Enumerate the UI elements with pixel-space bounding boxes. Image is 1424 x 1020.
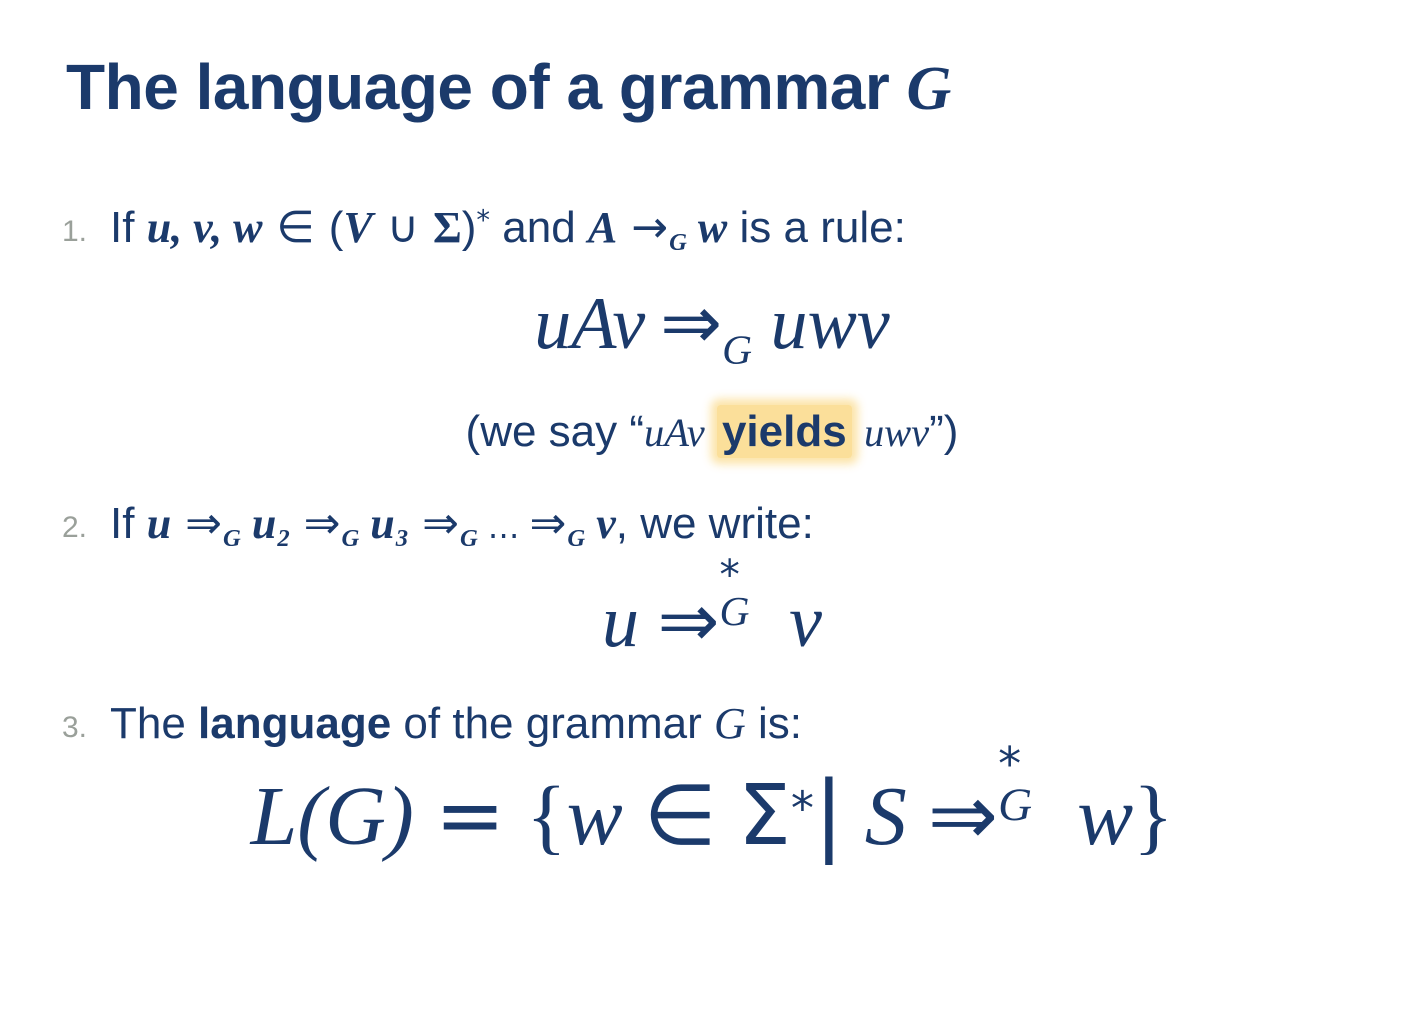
eq3-subscript-G: G <box>998 782 1032 829</box>
item2-if: If <box>110 499 147 548</box>
item1-var-w2: w <box>687 203 727 252</box>
note-space-2 <box>852 407 864 456</box>
eq2-subscript-G: G <box>720 591 750 632</box>
note-open: (we say “ <box>466 407 644 456</box>
list-text-3: The language of the grammar G is: <box>110 700 802 748</box>
item1-and: and <box>490 203 588 252</box>
highlighted-term-yields: yields <box>717 405 852 458</box>
double-arrow-icon: ⇒ <box>928 766 998 864</box>
item1-if: If <box>110 203 147 252</box>
note-space-1 <box>705 407 717 456</box>
list-item-3: 3. The language of the grammar G is: <box>62 700 802 748</box>
item2-var-u: u <box>147 499 171 548</box>
eq2-lhs: u <box>602 581 639 663</box>
item2-var-u2: u <box>241 499 276 548</box>
item3-the: The <box>110 699 198 748</box>
eq2-rhs: v <box>789 581 822 663</box>
eq3-close-brace: } <box>1133 770 1173 863</box>
item2-sub-G-2: G <box>340 525 359 552</box>
item2-sub-G-1: G <box>222 525 241 552</box>
eq3-such-that-bar: | <box>814 762 844 865</box>
item3-grammar-symbol: G <box>714 699 746 748</box>
page-title: The language of a grammar G <box>66 51 951 125</box>
equation-derives-star: u ⇒*G v <box>0 572 1424 659</box>
double-arrow-icon: ⇒ <box>658 578 720 664</box>
item2-u2-index: 2 <box>276 525 289 552</box>
note-yields-wording: (we say “uAv yields uwv”) <box>0 408 1424 456</box>
title-bold-word: language <box>196 51 473 123</box>
item1-set-Sigma: Σ <box>433 203 462 252</box>
eq3-rhs-w: w <box>1077 770 1133 863</box>
item2-sub-G-4: G <box>566 525 585 552</box>
member-of-icon: ∈ <box>262 202 328 253</box>
double-arrow-icon-4: ⇒ <box>530 498 567 549</box>
eq1-subscript-G: G <box>722 327 752 373</box>
equation-language-definition: L(G) = {w ∈ Σ*| S ⇒*G w} <box>0 760 1424 859</box>
list-item-2: 2. If u ⇒G u2 ⇒G u3 ⇒G … ⇒G v, we write: <box>62 500 814 552</box>
item1-kleene-star: * <box>476 206 490 237</box>
eq1-rhs: uwv <box>771 283 890 365</box>
union-icon: ∪ <box>373 202 433 253</box>
note-math-uwv: uwv <box>864 410 929 455</box>
item1-comma-1: , <box>171 203 193 252</box>
item3-bold-language: language <box>198 699 391 748</box>
eq3-start-symbol-S: S <box>865 770 907 863</box>
eq2-star-over-G: *G <box>720 572 753 646</box>
list-number-3: 3. <box>62 700 110 743</box>
rightwards-arrow-icon: → <box>617 202 668 253</box>
item3-middle: of the grammar <box>391 699 714 748</box>
equals-icon: = <box>435 766 505 864</box>
item3-tail: is: <box>746 699 802 748</box>
list-number-2: 2. <box>62 500 110 543</box>
title-middle: of a grammar <box>473 51 907 123</box>
eq1-lhs: uAv <box>534 283 645 365</box>
title-grammar-symbol: G <box>907 55 951 123</box>
member-of-icon: ∈ <box>644 766 717 864</box>
list-item-1: 1. If u, v, w ∈ (V ∪ Σ)* and A →G w is a… <box>62 204 906 256</box>
list-number-1: 1. <box>62 204 110 247</box>
ellipsis-icon: … <box>478 510 530 546</box>
item2-var-v: v <box>585 499 616 548</box>
double-arrow-icon-1: ⇒ <box>171 498 222 549</box>
item1-var-w: w <box>233 203 262 252</box>
eq3-var-w: w <box>567 770 623 863</box>
item1-open-paren: ( <box>329 203 344 252</box>
eq3-open-brace: { <box>526 770 566 863</box>
eq3-lhs: L(G) <box>251 770 414 863</box>
item2-var-u3: u <box>359 499 394 548</box>
item1-set-V: V <box>343 203 372 252</box>
item1-nonterminal-A: A <box>588 203 617 252</box>
double-arrow-icon-3: ⇒ <box>408 498 459 549</box>
note-math-uav: uAv <box>644 410 705 455</box>
slide-canvas: The language of a grammar G 1. If u, v, … <box>0 0 1424 1020</box>
eq3-kleene-star: * <box>791 782 814 836</box>
item1-comma-2: , <box>211 203 233 252</box>
double-arrow-icon: ⇒ <box>660 280 722 366</box>
item2-u3-index: 3 <box>395 525 408 552</box>
item2-tail: , we write: <box>616 499 814 548</box>
equation-yields: uAv ⇒G uwv <box>0 286 1424 371</box>
double-arrow-icon-2: ⇒ <box>290 498 341 549</box>
item1-var-v: v <box>193 203 211 252</box>
item1-arrow-subscript-G: G <box>668 229 687 256</box>
item1-tail: is a rule: <box>727 203 906 252</box>
title-prefix: The <box>66 51 196 123</box>
list-text-1: If u, v, w ∈ (V ∪ Σ)* and A →G w is a ru… <box>110 204 906 256</box>
item2-sub-G-3: G <box>459 525 478 552</box>
item1-close-paren: ) <box>462 203 477 252</box>
eq3-star-over-G: *G <box>998 760 1035 844</box>
eq3-sigma: Σ <box>738 766 791 864</box>
item1-var-u: u <box>147 203 171 252</box>
note-close: ”) <box>929 407 958 456</box>
list-text-2: If u ⇒G u2 ⇒G u3 ⇒G … ⇒G v, we write: <box>110 500 814 552</box>
